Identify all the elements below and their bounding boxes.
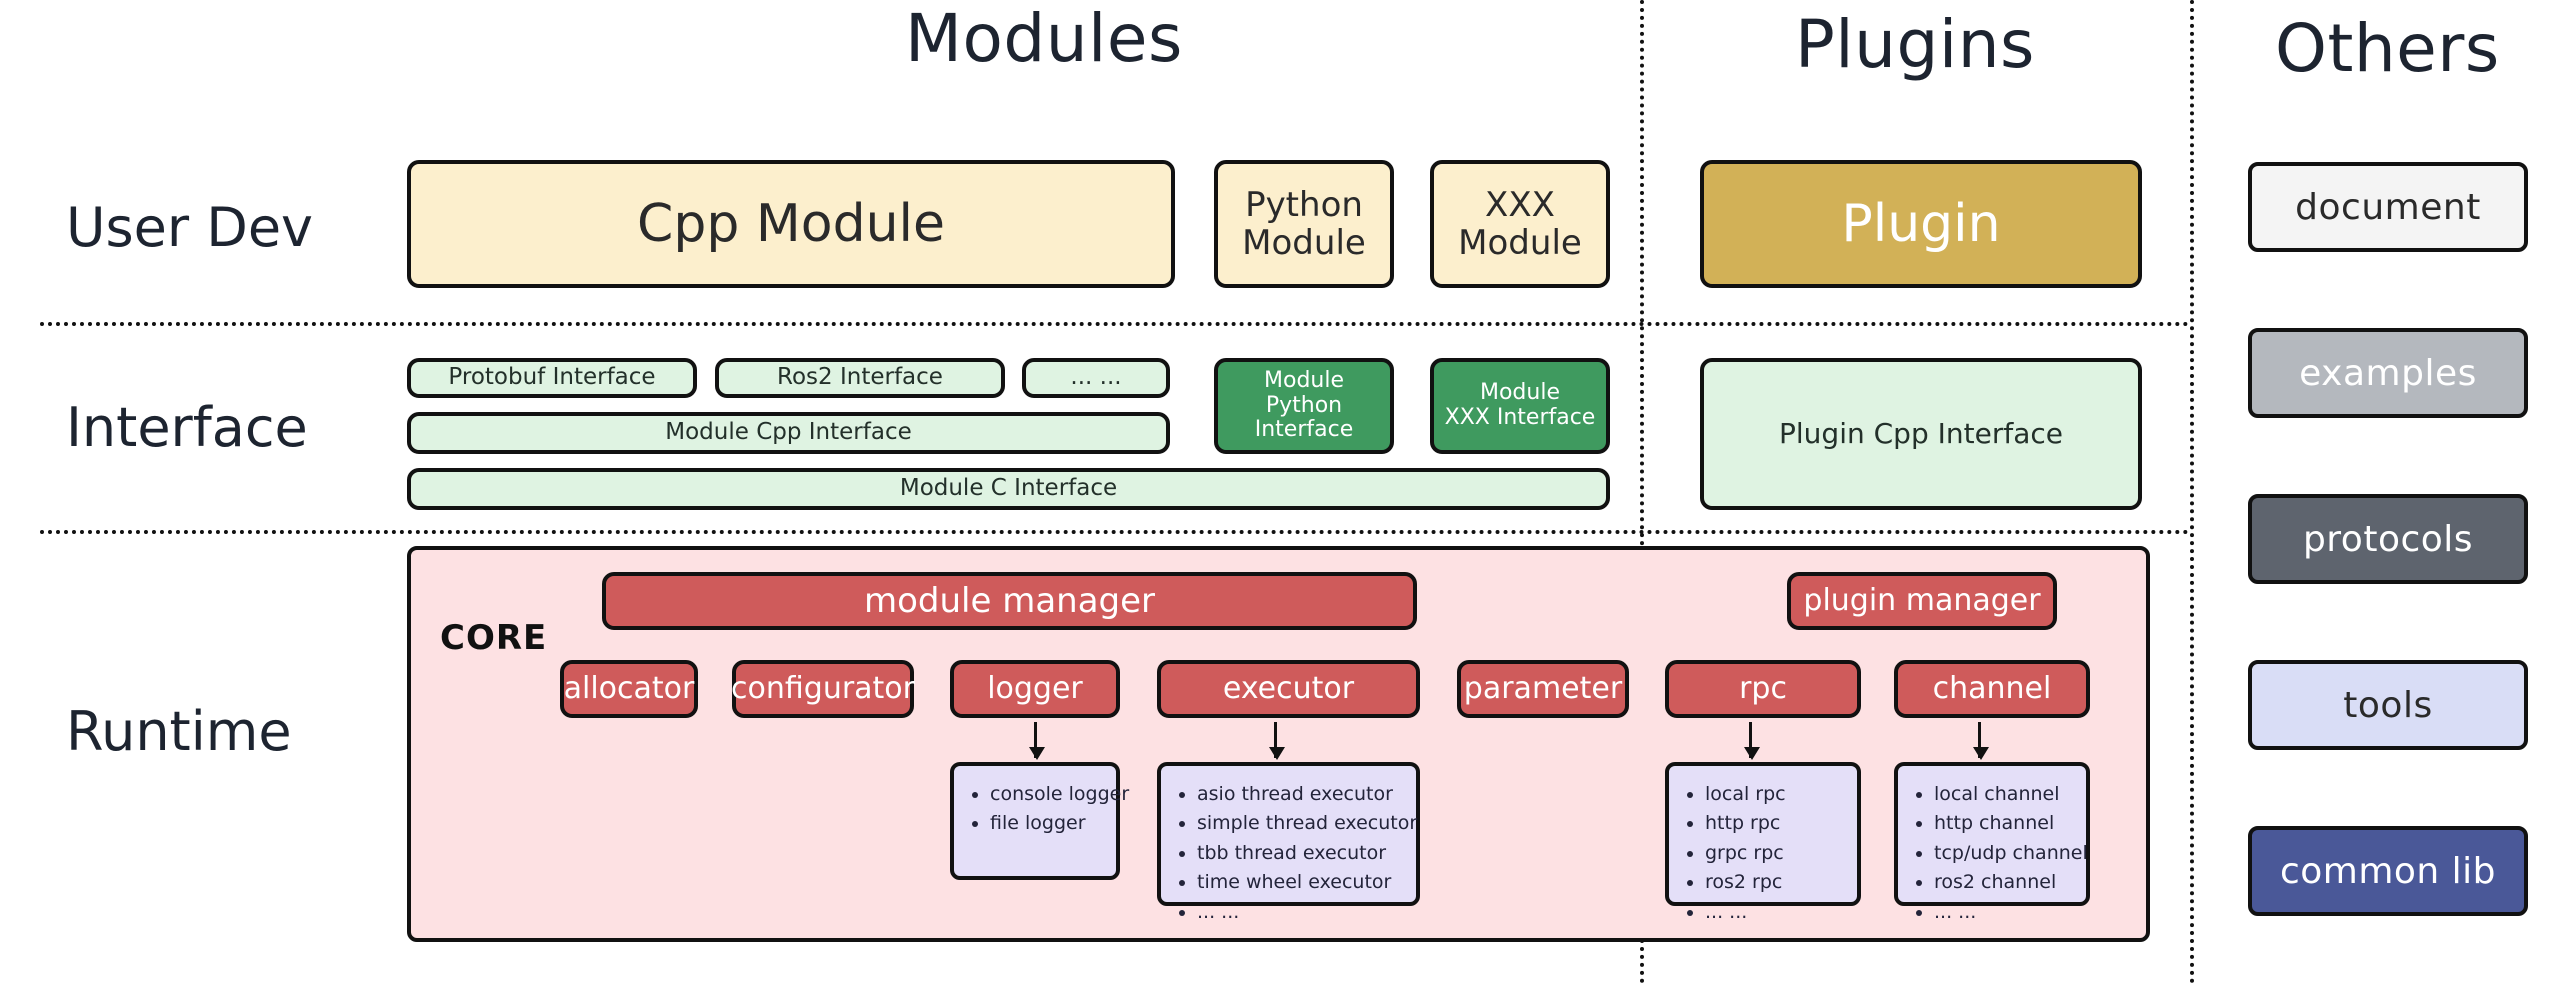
rpc-box[interactable]: rpc <box>1665 660 1861 718</box>
allocator-box[interactable]: allocator <box>560 660 698 718</box>
list-item: http channel <box>1934 809 2074 838</box>
python-module-label-line2: Module <box>1242 224 1366 262</box>
list-item: http rpc <box>1705 809 1845 838</box>
divider-user-dev-interface <box>40 322 2190 326</box>
rpc-detail-list: local rpchttp rpcgrpc rpcros2 rpc... ... <box>1665 762 1861 906</box>
executor-box[interactable]: executor <box>1157 660 1420 718</box>
others-item-examples[interactable]: examples <box>2248 328 2528 418</box>
python-module-label-line1: Python <box>1242 186 1366 224</box>
core-label: CORE <box>440 618 547 658</box>
module-python-interface-line2: Python Interface <box>1218 394 1390 443</box>
configurator-box[interactable]: configurator <box>732 660 914 718</box>
list-item: tbb thread executor <box>1197 839 1404 868</box>
list-item: ... ... <box>1705 898 1845 927</box>
divider-plugins-others <box>2190 0 2194 984</box>
module-python-interface-box[interactable]: Module Python Interface <box>1214 358 1394 454</box>
rpc-detail-items: local rpchttp rpcgrpc rpcros2 rpc... ... <box>1683 780 1845 927</box>
etc-interface-box[interactable]: ... ... <box>1022 358 1170 398</box>
parameter-box[interactable]: parameter <box>1457 660 1629 718</box>
module-manager-box[interactable]: module manager <box>602 572 1417 630</box>
xxx-module-label-line2: Module <box>1458 224 1582 262</box>
module-xxx-interface-line2: XXX Interface <box>1445 406 1596 431</box>
module-xxx-interface-box[interactable]: Module XXX Interface <box>1430 358 1610 454</box>
column-header-others: Others <box>2275 10 2500 87</box>
list-item: grpc rpc <box>1705 839 1845 868</box>
list-item: ... ... <box>1934 898 2074 927</box>
executor-detail-items: asio thread executorsimple thread execut… <box>1175 780 1404 927</box>
list-item: console logger <box>990 780 1104 809</box>
module-cpp-interface-box[interactable]: Module Cpp Interface <box>407 412 1170 454</box>
row-label-runtime: Runtime <box>66 700 292 763</box>
others-item-document[interactable]: document <box>2248 162 2528 252</box>
others-item-common-lib[interactable]: common lib <box>2248 826 2528 916</box>
list-item: ros2 rpc <box>1705 868 1845 897</box>
architecture-diagram: Modules Plugins Others User Dev Interfac… <box>0 0 2560 984</box>
others-item-protocols[interactable]: protocols <box>2248 494 2528 584</box>
logger-detail-list: console loggerfile logger <box>950 762 1120 880</box>
list-item: ros2 channel <box>1934 868 2074 897</box>
module-c-interface-box[interactable]: Module C Interface <box>407 468 1610 510</box>
module-xxx-interface-line1: Module <box>1445 381 1596 406</box>
list-item: asio thread executor <box>1197 780 1404 809</box>
plugin-cpp-interface-box[interactable]: Plugin Cpp Interface <box>1700 358 2142 510</box>
row-label-user-dev: User Dev <box>66 196 313 259</box>
python-module-box[interactable]: Python Module <box>1214 160 1394 288</box>
list-item: local rpc <box>1705 780 1845 809</box>
list-item: simple thread executor <box>1197 809 1404 838</box>
channel-detail-list: local channelhttp channeltcp/udp channel… <box>1894 762 2090 906</box>
arrow-down-icon-rpc <box>1749 722 1752 758</box>
xxx-module-box[interactable]: XXX Module <box>1430 160 1610 288</box>
ros2-interface-box[interactable]: Ros2 Interface <box>715 358 1005 398</box>
list-item: ... ... <box>1197 898 1404 927</box>
executor-detail-list: asio thread executorsimple thread execut… <box>1157 762 1420 906</box>
list-item: file logger <box>990 809 1104 838</box>
logger-box[interactable]: logger <box>950 660 1120 718</box>
others-item-tools[interactable]: tools <box>2248 660 2528 750</box>
arrow-down-icon-executor <box>1274 722 1277 758</box>
channel-box[interactable]: channel <box>1894 660 2090 718</box>
logger-detail-items: console loggerfile logger <box>968 780 1104 839</box>
arrow-down-icon-channel <box>1978 722 1981 758</box>
divider-interface-runtime <box>40 530 2190 534</box>
plugin-box[interactable]: Plugin <box>1700 160 2142 288</box>
column-header-modules: Modules <box>905 0 1183 77</box>
protobuf-interface-box[interactable]: Protobuf Interface <box>407 358 697 398</box>
cpp-module-box[interactable]: Cpp Module <box>407 160 1175 288</box>
module-python-interface-line1: Module <box>1218 369 1390 394</box>
channel-detail-items: local channelhttp channeltcp/udp channel… <box>1912 780 2074 927</box>
plugin-manager-box[interactable]: plugin manager <box>1787 572 2057 630</box>
list-item: local channel <box>1934 780 2074 809</box>
row-label-interface: Interface <box>66 396 308 459</box>
xxx-module-label-line1: XXX <box>1458 186 1582 224</box>
list-item: time wheel executor <box>1197 868 1404 897</box>
column-header-plugins: Plugins <box>1795 6 2035 83</box>
arrow-down-icon-logger <box>1034 722 1037 758</box>
list-item: tcp/udp channel <box>1934 839 2074 868</box>
